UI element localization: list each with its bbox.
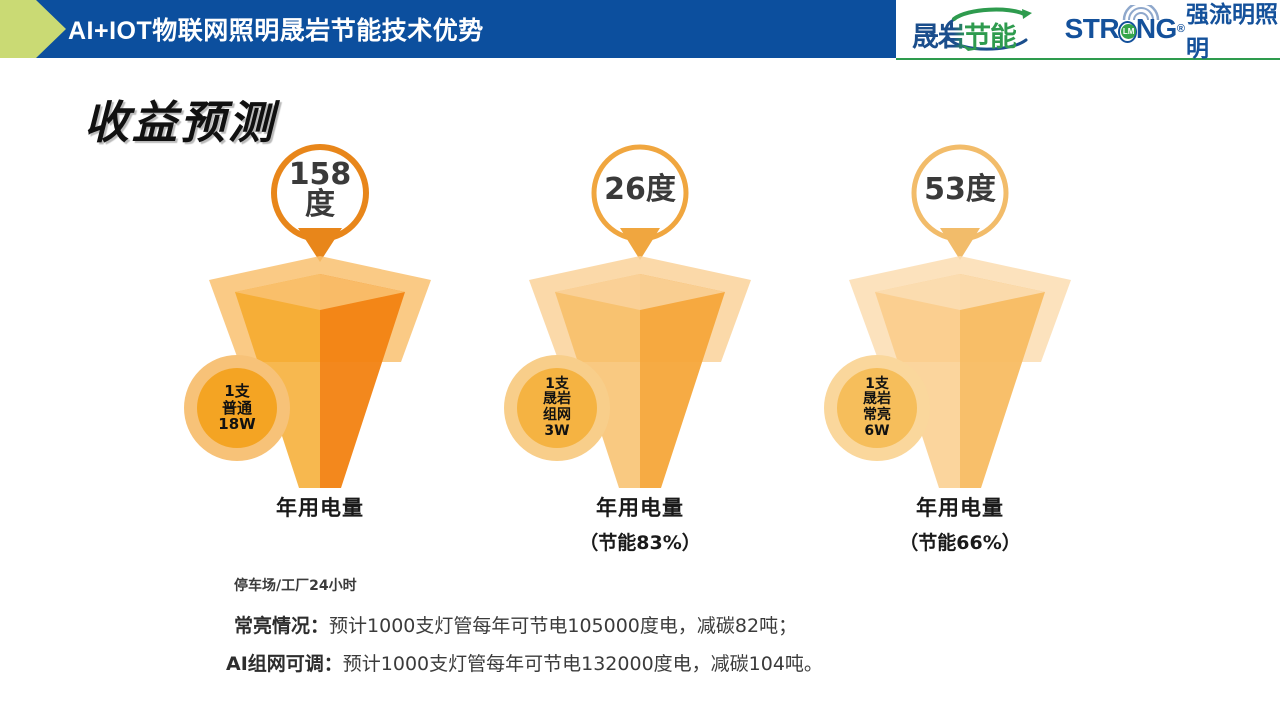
pin-value-line2: 度	[305, 190, 335, 220]
funnel-column-2: 26度 1支 晟岩 组网 3W	[490, 140, 790, 560]
pin-value-line1: 53度	[924, 175, 996, 205]
badge-3: 1支 晟岩 常亮 6W	[824, 355, 930, 461]
pin-value-line1: 158	[289, 160, 352, 190]
slide-canvas: AI+IOT物联网照明晟岩节能技术优势 晟岩节能	[0, 0, 1280, 720]
caption-main: 年用电量	[170, 492, 470, 522]
funnel-caption-3: 年用电量 （节能66%）	[810, 492, 1110, 555]
funnel-caption-1: 年用电量	[170, 492, 470, 528]
badge-inner-3: 1支 晟岩 常亮 6W	[837, 368, 917, 448]
pin-marker-2: 26度	[587, 142, 693, 264]
strong-word-part1: STR	[1065, 13, 1120, 45]
slide-header: AI+IOT物联网照明晟岩节能技术优势 晟岩节能	[0, 0, 1280, 58]
shengyan-logo-text: 晟岩节能	[912, 15, 1016, 54]
pin-label-3: 53度	[907, 142, 1013, 238]
pin-marker-1: 158 度	[267, 142, 373, 264]
badge-line: 组网	[543, 408, 571, 424]
registered-mark: ®	[1177, 23, 1185, 35]
caption-sub: （节能66%）	[810, 528, 1110, 555]
lm-circle-label: LM	[1121, 24, 1136, 39]
badge-line: 1支	[545, 377, 569, 393]
badge-line: 3W	[544, 424, 569, 440]
funnel-column-1: 158 度 1支 普通	[170, 140, 470, 560]
note-line-1-lead: 常亮情况：	[234, 615, 329, 637]
pin-value-line1: 26度	[604, 175, 676, 205]
caption-sub: （节能83%）	[490, 528, 790, 555]
caption-main: 年用电量	[490, 492, 790, 522]
note-line-1: 常亮情况：预计1000支灯管每年可节电105000度电，减碳82吨；	[234, 611, 797, 638]
badge-line: 6W	[864, 424, 889, 440]
badge-line: 1支	[865, 377, 889, 393]
funnel-column-3: 53度 1支 晟岩 常亮 6W	[810, 140, 1110, 560]
badge-inner-2: 1支 晟岩 组网 3W	[517, 368, 597, 448]
note-line-2-body: 预计1000支灯管每年可节电132000度电，减碳104吨。	[343, 653, 823, 675]
header-title: AI+IOT物联网照明晟岩节能技术优势	[68, 0, 484, 58]
badge-line: 普通	[222, 400, 252, 417]
badge-inner-1: 1支 普通 18W	[197, 368, 277, 448]
note-scene: 停车场/工厂24小时	[234, 575, 357, 595]
note-line-1-body: 预计1000支灯管每年可节电105000度电，减碳82吨；	[329, 615, 797, 637]
pin-marker-3: 53度	[907, 142, 1013, 264]
logo-wrap: 晟岩节能 STR LM NG ® 强流明照明	[906, 7, 1280, 51]
pin-label-2: 26度	[587, 142, 693, 238]
shengyan-logo: 晟岩节能	[906, 7, 1061, 51]
badge-2: 1支 晟岩 组网 3W	[504, 355, 610, 461]
note-line-2-lead: AI组网可调：	[226, 653, 343, 675]
badge-line: 1支	[224, 383, 249, 400]
funnel-caption-2: 年用电量 （节能83%）	[490, 492, 790, 555]
caption-main: 年用电量	[810, 492, 1110, 522]
brand-cn-name: 强流明照明	[1186, 0, 1280, 63]
badge-line: 18W	[218, 416, 255, 433]
note-line-2: AI组网可调：预计1000支灯管每年可节电132000度电，减碳104吨。	[226, 649, 823, 676]
brand-logo-area: 晟岩节能 STR LM NG ® 强流明照明	[896, 0, 1280, 60]
strong-word-part2: NG	[1136, 13, 1177, 45]
badge-line: 晟岩	[863, 392, 891, 408]
pin-label-1: 158 度	[267, 142, 373, 238]
badge-1: 1支 普通 18W	[184, 355, 290, 461]
lm-circle-icon: LM	[1118, 21, 1137, 43]
badge-line: 晟岩	[543, 392, 571, 408]
badge-line: 常亮	[863, 408, 891, 424]
strong-logo: STR LM NG ® 强流明照明	[1065, 7, 1280, 51]
funnel-group: 158 度 1支 普通	[0, 140, 1280, 560]
